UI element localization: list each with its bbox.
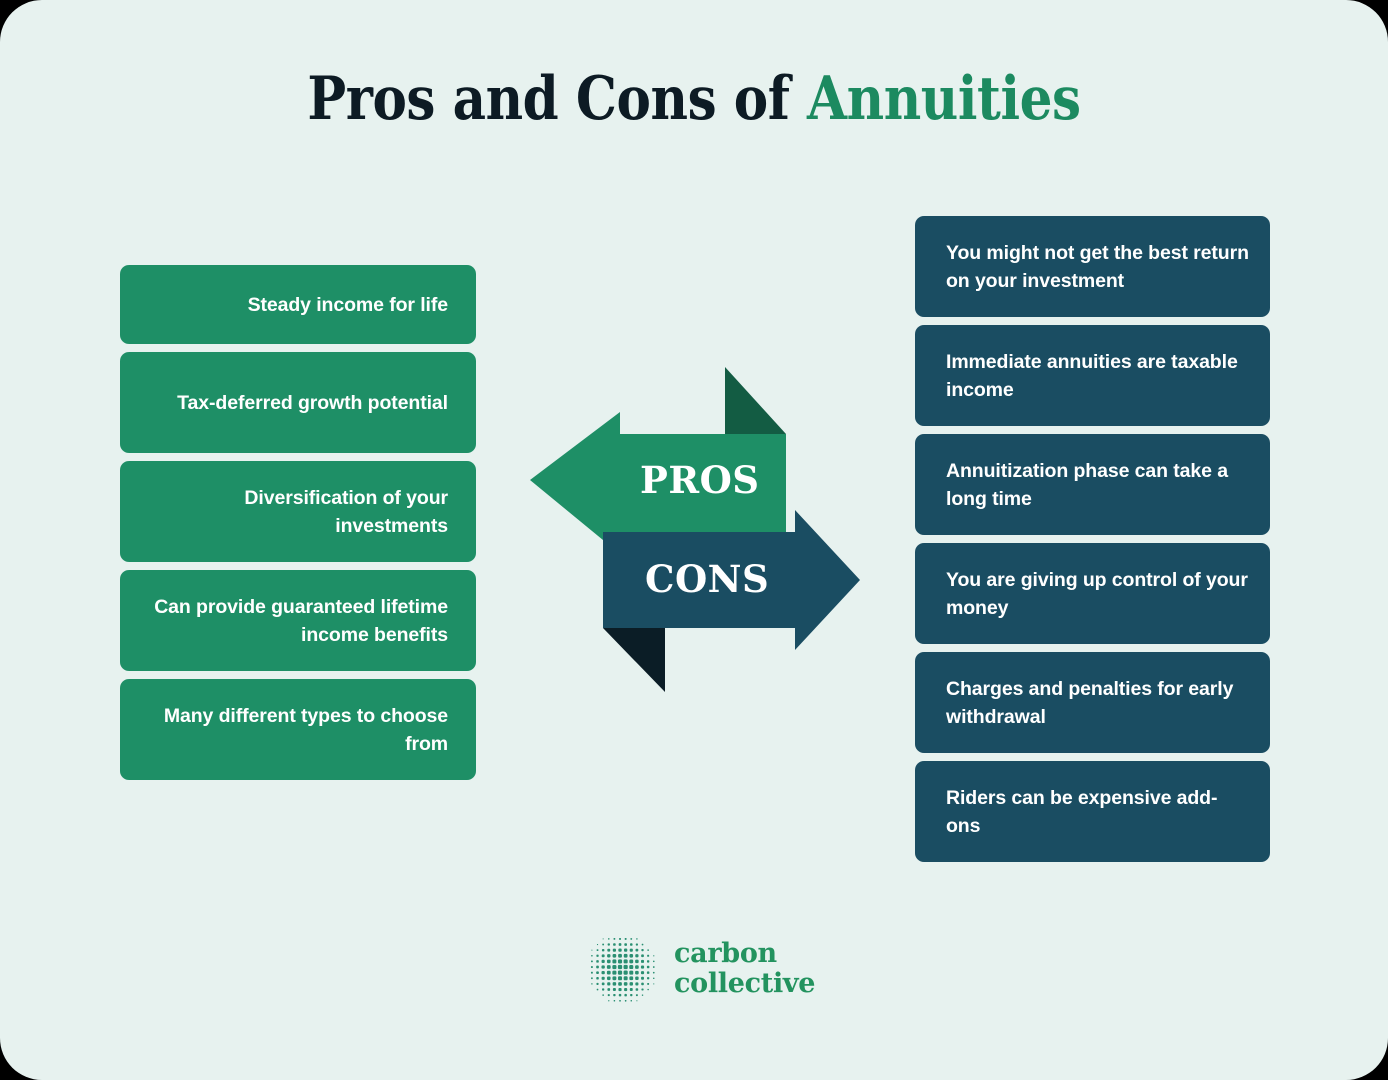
- cons-item-label: Annuitization phase can take a long time: [946, 457, 1250, 513]
- cons-item-label: You are giving up control of your money: [946, 566, 1250, 622]
- pros-item-label: Tax-deferred growth potential: [177, 389, 448, 417]
- pros-arrow-label: PROS: [640, 458, 760, 502]
- pros-item-label: Can provide guaranteed lifetime income b…: [140, 593, 448, 649]
- list-item: Tax-deferred growth potential: [120, 352, 476, 453]
- list-item: You might not get the best return on you…: [915, 216, 1270, 317]
- list-item: Many different types to choose from: [120, 679, 476, 780]
- list-item: Annuitization phase can take a long time: [915, 434, 1270, 535]
- list-item: Can provide guaranteed lifetime income b…: [120, 570, 476, 671]
- brand-wordmark-line1: carbon: [674, 939, 815, 969]
- cons-item-label: Charges and penalties for early withdraw…: [946, 675, 1250, 731]
- page-title: Pros and Cons of Annuities: [97, 64, 1291, 134]
- brand-wordmark-line2: collective: [674, 969, 815, 999]
- pros-item-label: Steady income for life: [248, 291, 448, 319]
- cons-item-label: Immediate annuities are taxable income: [946, 348, 1250, 404]
- brand-logo: carbon collective: [584, 928, 816, 1010]
- cons-fold-triangle: [603, 628, 665, 692]
- carbon-collective-dot-circle-logo-icon: [584, 931, 660, 1007]
- list-item: Charges and penalties for early withdraw…: [915, 652, 1270, 753]
- pros-item-label: Diversification of your investments: [140, 484, 448, 540]
- pros-list: Steady income for life Tax-deferred grow…: [120, 265, 476, 780]
- list-item: Immediate annuities are taxable income: [915, 325, 1270, 426]
- list-item: Diversification of your investments: [120, 461, 476, 562]
- cons-arrow-label: CONS: [645, 557, 769, 601]
- page-title-main: Pros and Cons of: [307, 64, 807, 134]
- list-item: Steady income for life: [120, 265, 476, 344]
- list-item: Riders can be expensive add-ons: [915, 761, 1270, 862]
- infographic-card: Pros and Cons of Annuities Steady income…: [0, 0, 1388, 1080]
- cons-item-label: Riders can be expensive add-ons: [946, 784, 1250, 840]
- list-item: You are giving up control of your money: [915, 543, 1270, 644]
- pros-fold-triangle: [725, 367, 786, 434]
- cons-item-label: You might not get the best return on you…: [946, 239, 1250, 295]
- pros-cons-arrow-graphic: PROS CONS: [510, 360, 890, 700]
- pros-item-label: Many different types to choose from: [140, 702, 448, 758]
- brand-wordmark: carbon collective: [674, 939, 815, 999]
- page-title-accent: Annuities: [807, 64, 1081, 134]
- cons-list: You might not get the best return on you…: [915, 216, 1270, 862]
